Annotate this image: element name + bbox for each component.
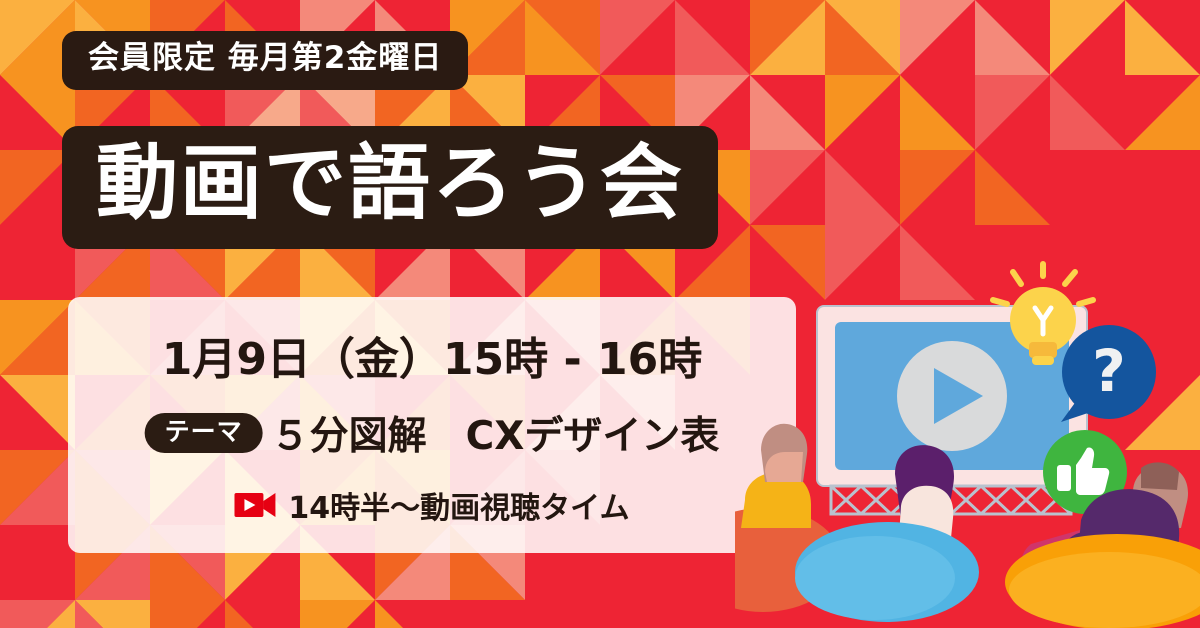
question-bubble-icon: ? [1061,325,1156,422]
theme-badge: テーマ [145,413,263,453]
theme-row: テーマ ５分図解 CXデザイン表 [145,405,720,461]
banner-title-block: 動画で語ろう会 [62,126,718,249]
video-camera-icon [234,491,276,519]
membership-badge-label: 会員限定 毎月第2金曜日 [88,40,442,76]
event-banner: 会員限定 毎月第2金曜日 動画で語ろう会 1月9日（金）15時 - 16時 テー… [0,0,1200,628]
people-watching-video-illustration: ? [735,260,1200,628]
watch-time-row: 14時半〜動画視聴タイム [234,483,629,527]
watch-time-label: 14時半〜動画視聴タイム [288,483,629,527]
membership-badge: 会員限定 毎月第2金曜日 [62,31,468,90]
page-title: 動画で語ろう会 [96,140,684,229]
question-mark-glyph: ? [1092,337,1126,405]
event-info-panel: 1月9日（金）15時 - 16時 テーマ ５分図解 CXデザイン表 14時半〜動… [68,297,796,553]
theme-title: ５分図解 CXデザイン表 [271,405,720,461]
event-datetime: 1月9日（金）15時 - 16時 [162,323,703,387]
